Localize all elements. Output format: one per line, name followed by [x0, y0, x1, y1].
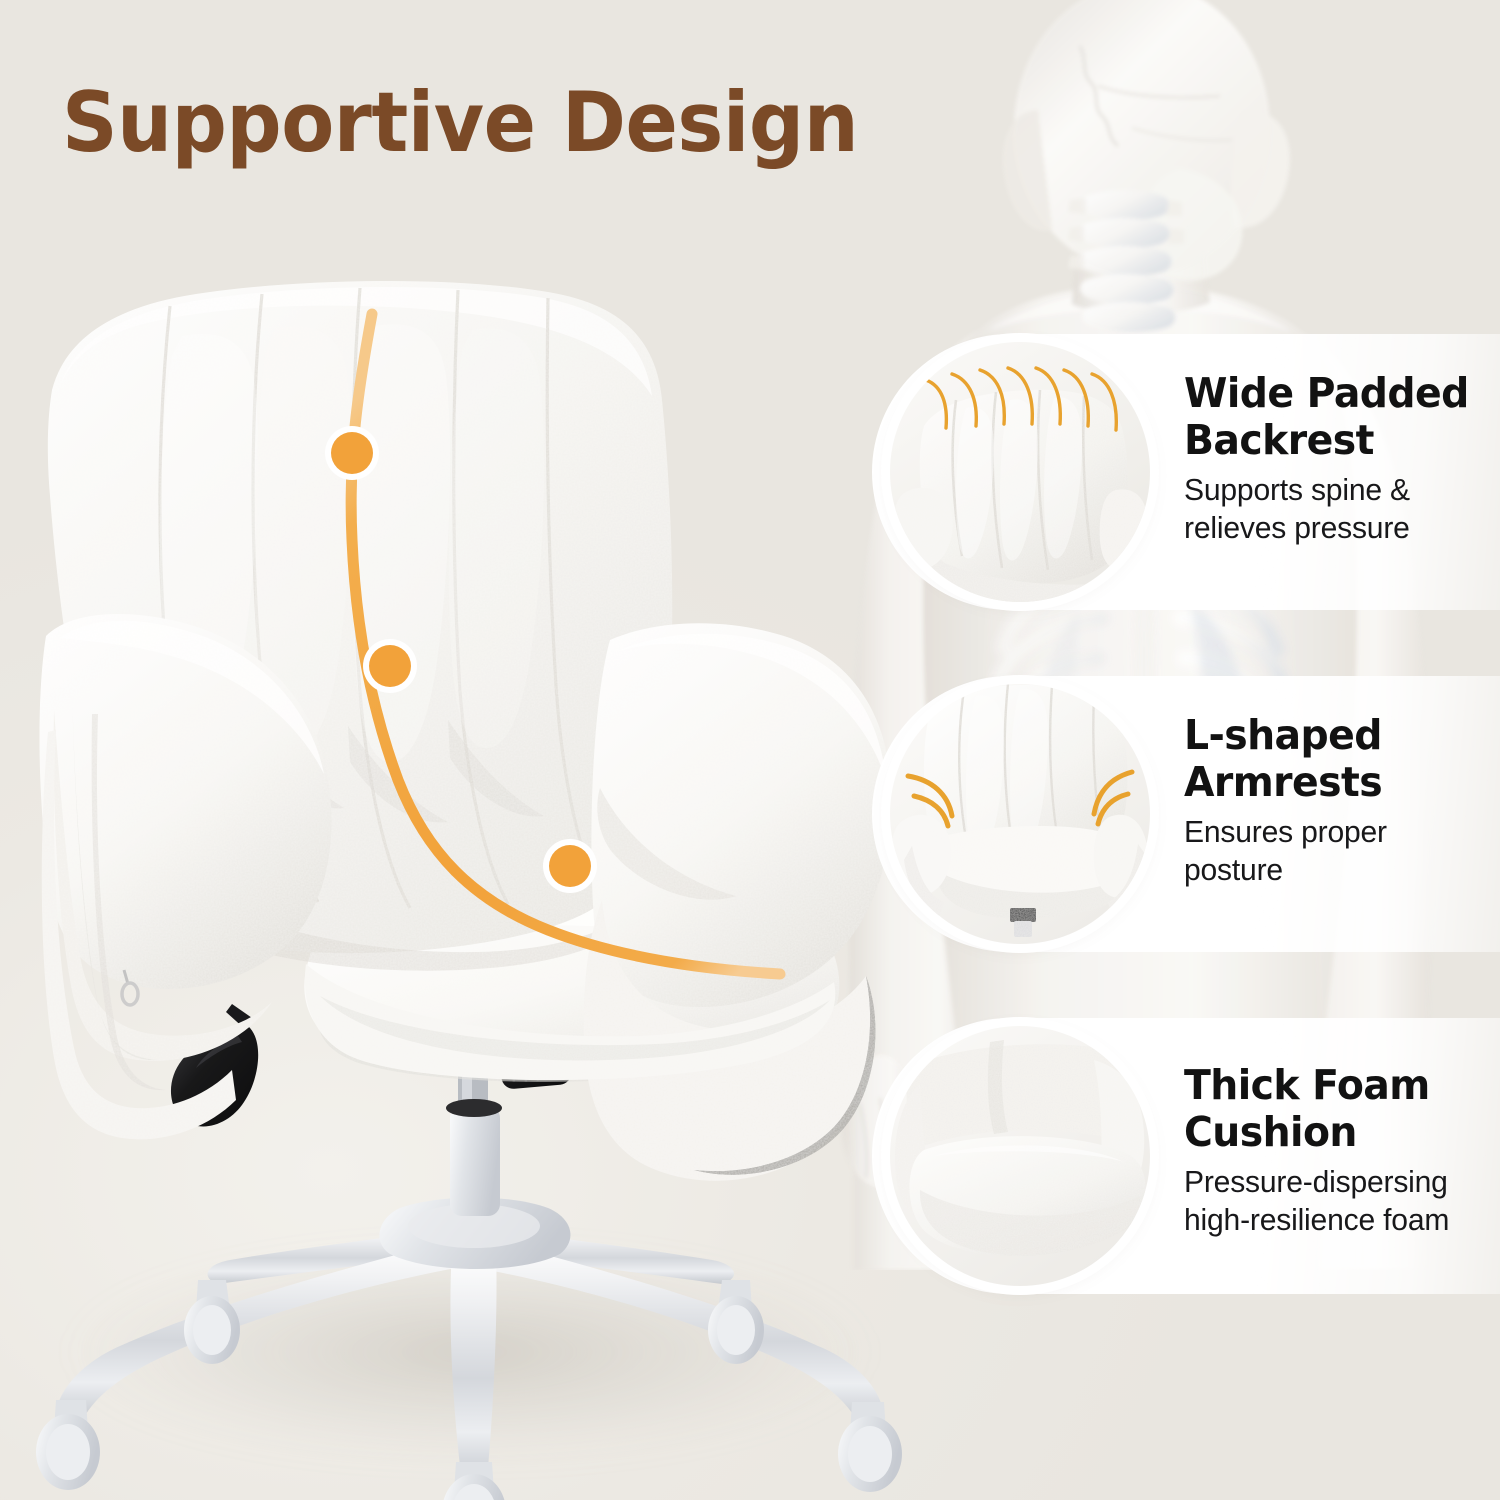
right-armrest	[584, 623, 891, 1181]
feature-subtitle-line2: high-resilience foam	[1184, 1202, 1449, 1237]
main-product-office-chair	[0, 240, 960, 1500]
feature-subtitle-line2: relieves pressure	[1184, 510, 1410, 545]
feature-image-backrest-closeup	[890, 342, 1150, 602]
feature-title-line2: Cushion	[1184, 1108, 1357, 1156]
feature-title-line1: Wide Padded	[1184, 369, 1469, 417]
caster-wheel	[838, 1402, 902, 1492]
feature-subtitle-line1: Supports spine &	[1184, 472, 1410, 507]
feature-subtitle-line1: Ensures proper	[1184, 814, 1387, 849]
feature-title-line2: Backrest	[1184, 416, 1374, 464]
feature-text-block: Thick Foam Cushion Pressure-dispersing h…	[1184, 1062, 1490, 1239]
chair-base-and-casters	[36, 1198, 902, 1500]
infographic-canvas: Supportive Design	[0, 0, 1500, 1500]
feature-callout-wide-padded-backrest[interactable]: Wide Padded Backrest Supports spine & re…	[872, 334, 1500, 610]
feature-callout-thick-foam-cushion[interactable]: Thick Foam Cushion Pressure-dispersing h…	[872, 1018, 1500, 1294]
feature-image-seat-cushion-closeup	[890, 1026, 1150, 1286]
feature-callout-l-shaped-armrests[interactable]: L-shaped Armrests Ensures proper posture	[872, 676, 1500, 952]
cervical-spine	[1068, 190, 1184, 332]
feature-title-line1: L-shaped	[1184, 711, 1382, 759]
feature-title-line1: Thick Foam	[1184, 1061, 1430, 1109]
feature-image-front-view-chair	[890, 684, 1150, 944]
page-title: Supportive Design	[62, 74, 858, 171]
feature-text-block: Wide Padded Backrest Supports spine & re…	[1184, 370, 1490, 547]
feature-subtitle-line1: Pressure-dispersing	[1184, 1164, 1448, 1199]
caster-wheel	[36, 1400, 100, 1490]
feature-title-line2: Armrests	[1184, 758, 1382, 806]
caster-wheel	[442, 1462, 506, 1500]
feature-subtitle-line2: posture	[1184, 852, 1283, 887]
feature-text-block: L-shaped Armrests Ensures proper posture	[1184, 712, 1490, 889]
